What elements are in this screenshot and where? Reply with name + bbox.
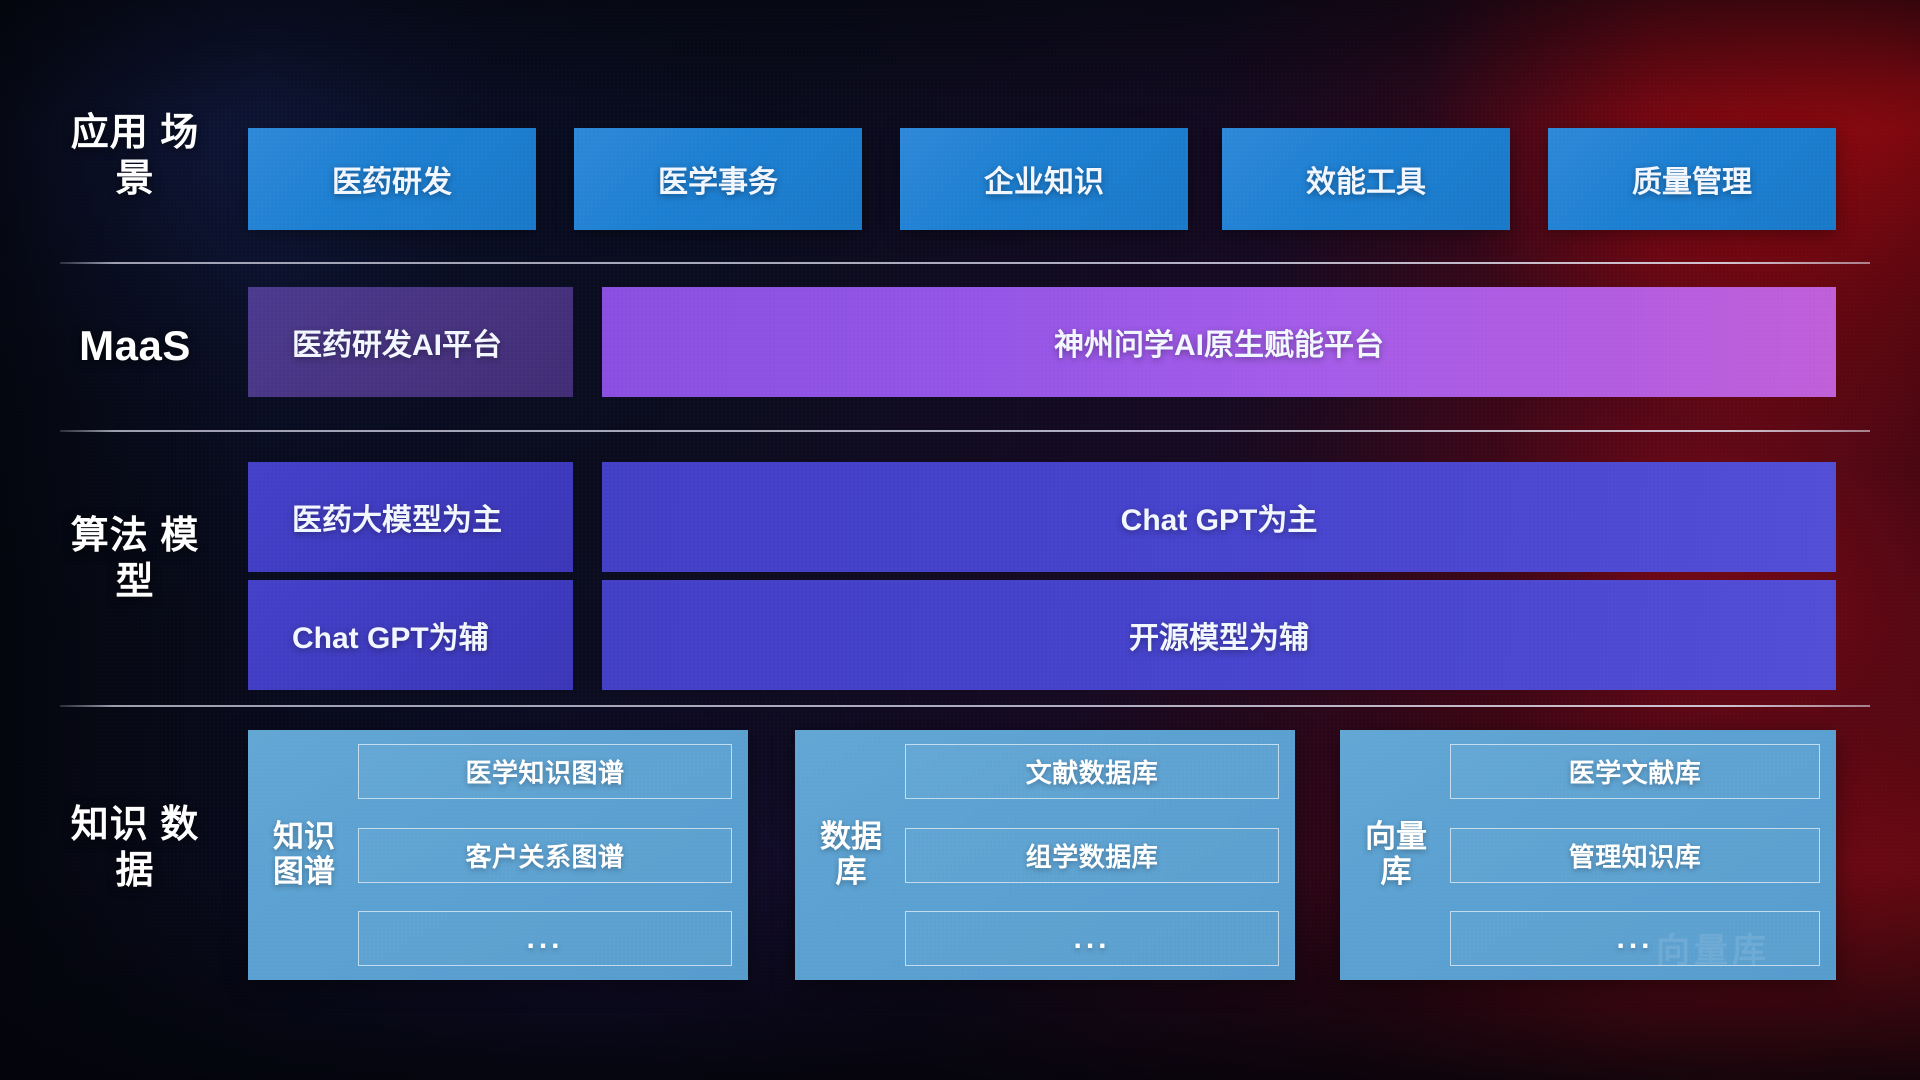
maas-card-enablement-platform[interactable]: 神州问学AI原生赋能平台 (602, 287, 1836, 397)
row-label-maas: MaaS (60, 320, 210, 371)
algo-card-row1-left[interactable]: 医药大模型为主 (248, 462, 573, 572)
knowledge-panel-vector-items: 医学文献库 管理知识库 ... (1434, 744, 1820, 966)
algo-card-row2-left-label: Chat GPT为辅 (292, 613, 489, 657)
algo-card-row2-wide[interactable]: 开源模型为辅 (602, 580, 1836, 690)
divider-maas-algorithm (60, 430, 1870, 432)
knowledge-panel-database[interactable]: 数据库 文献数据库 组学数据库 ... (795, 730, 1295, 980)
knowledge-item-graph-1[interactable]: 客户关系图谱 (358, 828, 732, 883)
knowledge-panel-graph[interactable]: 知识图谱 医学知识图谱 客户关系图谱 ... (248, 730, 748, 980)
app-card-1[interactable]: 医学事务 (574, 128, 862, 230)
maas-card-medical-ai-platform-label: 医药研发AI平台 (292, 320, 502, 364)
knowledge-panel-graph-items: 医学知识图谱 客户关系图谱 ... (342, 744, 732, 966)
knowledge-item-vector-0[interactable]: 医学文献库 (1450, 744, 1820, 799)
app-card-3[interactable]: 效能工具 (1222, 128, 1510, 230)
app-card-3-label: 效能工具 (1306, 157, 1426, 201)
app-card-2[interactable]: 企业知识 (900, 128, 1188, 230)
knowledge-panel-vector[interactable]: 向量库 医学文献库 管理知识库 ... (1340, 730, 1836, 980)
knowledge-item-vector-2[interactable]: ... (1450, 911, 1820, 966)
knowledge-panel-database-items: 文献数据库 组学数据库 ... (889, 744, 1279, 966)
knowledge-item-database-0[interactable]: 文献数据库 (905, 744, 1279, 799)
app-card-1-label: 医学事务 (658, 157, 778, 201)
slide-canvas: 应用 场景 医药研发 医学事务 企业知识 效能工具 质量管理 MaaS 医药研发… (0, 0, 1920, 1080)
maas-card-enablement-platform-label: 神州问学AI原生赋能平台 (1054, 320, 1384, 364)
knowledge-item-graph-0[interactable]: 医学知识图谱 (358, 744, 732, 799)
knowledge-item-database-1[interactable]: 组学数据库 (905, 828, 1279, 883)
divider-application-maas (60, 262, 1870, 264)
knowledge-panel-graph-title: 知识图谱 (266, 820, 342, 889)
algo-card-row2-left[interactable]: Chat GPT为辅 (248, 580, 573, 690)
knowledge-item-graph-2[interactable]: ... (358, 911, 732, 966)
row-label-application: 应用 场景 (60, 110, 210, 203)
row-label-knowledge: 知识 数据 (60, 802, 210, 895)
algo-card-row2-wide-label: 开源模型为辅 (1129, 613, 1309, 657)
knowledge-panel-vector-title: 向量库 (1358, 820, 1434, 889)
algo-card-row1-left-label: 医药大模型为主 (292, 495, 502, 539)
algo-card-row1-wide[interactable]: Chat GPT为主 (602, 462, 1836, 572)
divider-algorithm-knowledge (60, 705, 1870, 707)
maas-card-medical-ai-platform[interactable]: 医药研发AI平台 (248, 287, 573, 397)
app-card-2-label: 企业知识 (984, 157, 1104, 201)
app-card-4-label: 质量管理 (1632, 157, 1752, 201)
algo-card-row1-wide-label: Chat GPT为主 (1121, 495, 1318, 539)
row-label-algorithm: 算法 模型 (60, 513, 210, 606)
app-card-0-label: 医药研发 (332, 157, 452, 201)
knowledge-item-database-2[interactable]: ... (905, 911, 1279, 966)
app-card-0[interactable]: 医药研发 (248, 128, 536, 230)
app-card-4[interactable]: 质量管理 (1548, 128, 1836, 230)
knowledge-item-vector-1[interactable]: 管理知识库 (1450, 828, 1820, 883)
knowledge-panel-database-title: 数据库 (813, 820, 889, 889)
